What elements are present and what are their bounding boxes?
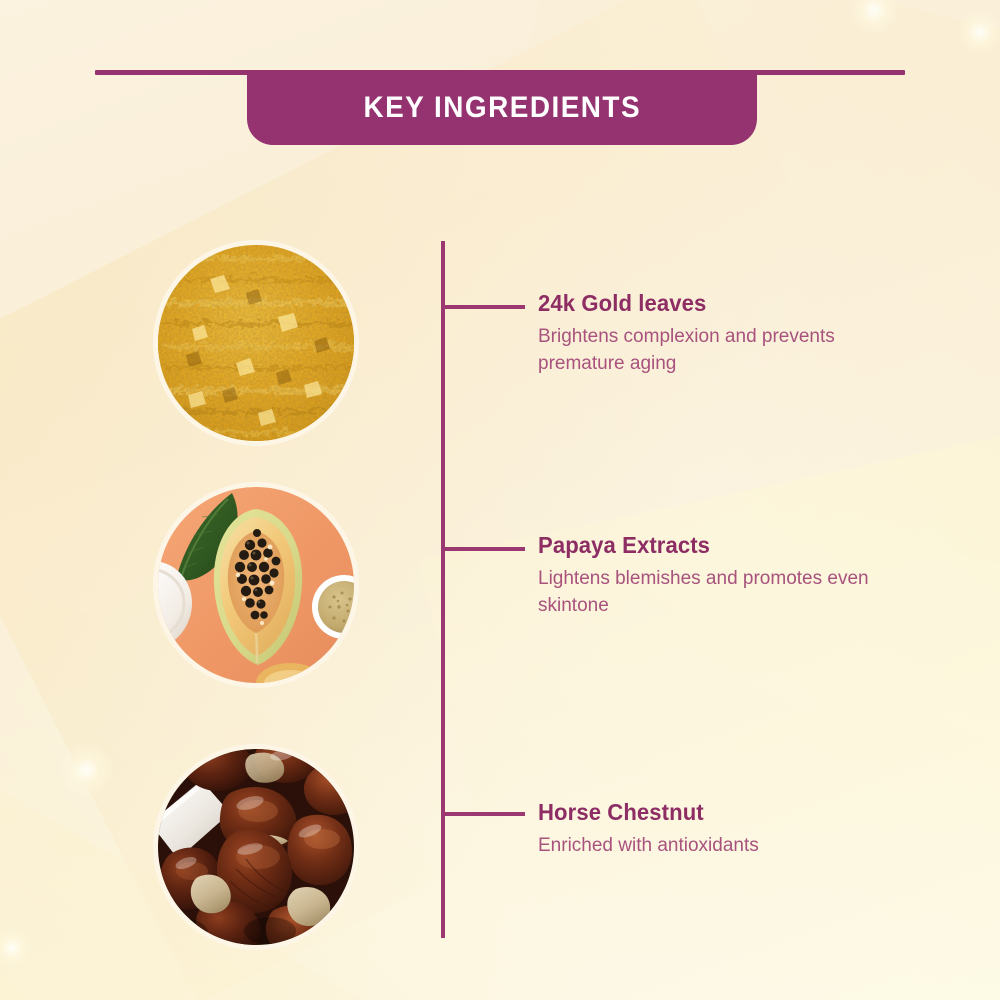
- ingredient-copy: 24k Gold leaves Brightens complexion and…: [538, 290, 938, 378]
- papaya-photo[interactable]: [158, 487, 354, 683]
- key-ingredients-infographic: KEY INGREDIENTS: [0, 0, 1000, 1000]
- connector-spine: [441, 241, 445, 938]
- ingredient-description: Lightens blemishes and promotes even ski…: [538, 566, 910, 620]
- connector-branch-3: [443, 812, 525, 816]
- ingredient-description: Brightens complexion and prevents premat…: [538, 324, 910, 378]
- ingredient-title: 24k Gold leaves: [538, 290, 922, 317]
- ingredient-copy: Papaya Extracts Lightens blemishes and p…: [538, 532, 938, 620]
- page-title: KEY INGREDIENTS: [363, 91, 641, 125]
- horse-chestnut-photo[interactable]: [158, 749, 354, 945]
- ingredient-copy: Horse Chestnut Enriched with antioxidant…: [538, 799, 938, 860]
- ingredient-title: Papaya Extracts: [538, 532, 922, 559]
- header-banner-tab: KEY INGREDIENTS: [247, 70, 757, 145]
- connector-branch-2: [443, 547, 525, 551]
- ingredient-title: Horse Chestnut: [538, 799, 922, 826]
- gold-leaves-photo[interactable]: [158, 245, 354, 441]
- ingredient-description: Enriched with antioxidants: [538, 833, 910, 860]
- connector-branch-1: [443, 305, 525, 309]
